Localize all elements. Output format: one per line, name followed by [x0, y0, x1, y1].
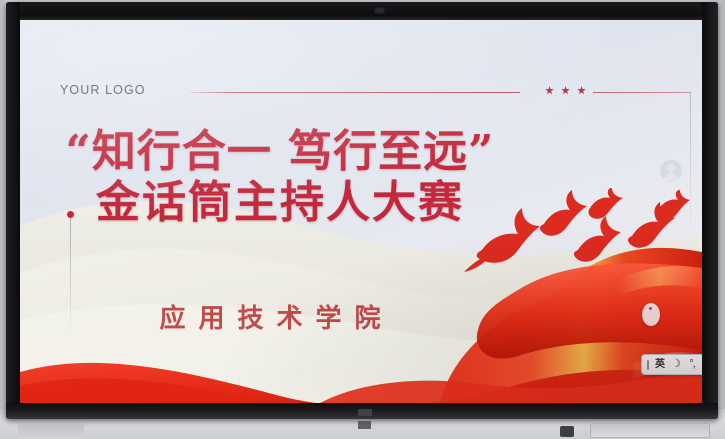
star-icon [561, 86, 570, 95]
bezel-right [702, 2, 718, 419]
three-stars-decoration [545, 86, 586, 95]
slide-title-line-2: 金话筒主持人大赛 [20, 178, 540, 227]
bezel-left [6, 2, 20, 419]
camera-icon [374, 7, 385, 14]
slide-title-line-1: “知行合一 笃行至远” [20, 128, 540, 176]
mounting-plate-right [590, 423, 710, 438]
brand-mark-bottom [358, 421, 371, 429]
user-avatar-watermark-icon [660, 160, 682, 182]
display-brand-logo [358, 409, 372, 416]
header-rule-right [593, 92, 691, 93]
bezel-top [6, 2, 718, 20]
ime-punctuation-icon[interactable]: °, [687, 359, 697, 370]
presentation-slide[interactable]: YOUR LOGO “知行合一 笃行至远” 金话筒主持人大赛 应用技术学院 英 … [20, 20, 702, 403]
header-rule-left [190, 92, 520, 93]
slide-subtitle: 应用技术学院 [20, 298, 520, 335]
star-icon [577, 86, 586, 95]
room-background: YOUR LOGO “知行合一 笃行至远” 金话筒主持人大赛 应用技术学院 英 … [0, 0, 725, 439]
ime-moon-mode-icon[interactable]: ☽ [671, 359, 681, 370]
ime-toolbar[interactable]: 英 ☽ °, ⚙ [641, 354, 702, 375]
touch-cursor [642, 303, 660, 326]
header-vertical-line [690, 92, 691, 242]
ime-drag-handle[interactable] [647, 360, 649, 370]
ime-language-toggle[interactable]: 英 [655, 360, 665, 370]
slide-title-block: “知行合一 笃行至远” 金话筒主持人大赛 [20, 128, 540, 227]
hardware-button-right[interactable] [560, 426, 574, 437]
star-icon [545, 86, 554, 95]
mounting-plate-left [18, 422, 84, 439]
flat-panel-display[interactable]: YOUR LOGO “知行合一 笃行至远” 金话筒主持人大赛 应用技术学院 英 … [6, 2, 718, 419]
bezel-bottom [6, 403, 718, 419]
logo-placeholder-text: YOUR LOGO [60, 83, 146, 97]
